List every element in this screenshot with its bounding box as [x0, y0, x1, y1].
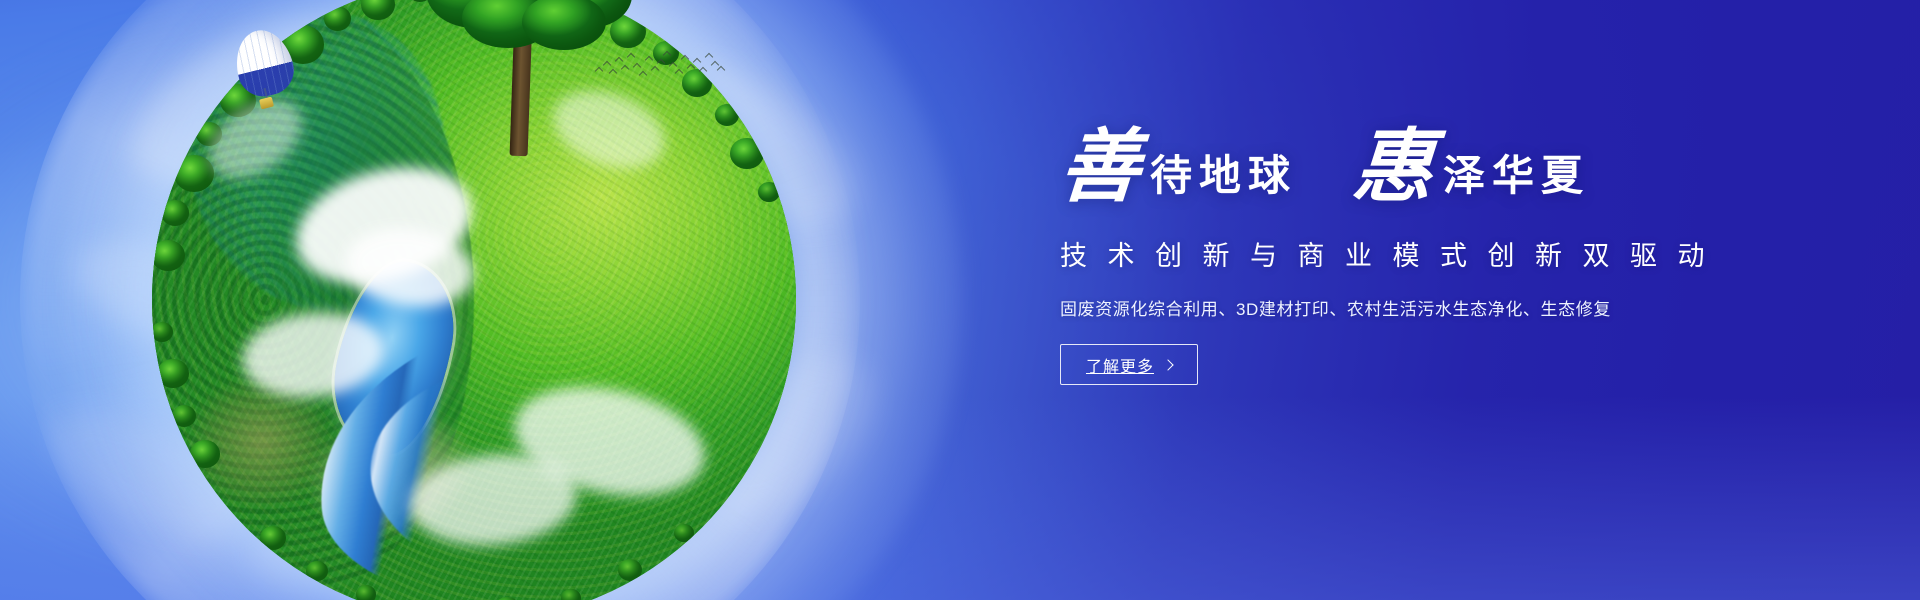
bird-icon	[627, 53, 635, 61]
tree-icon	[190, 440, 220, 468]
chevron-right-icon	[1162, 359, 1173, 370]
tree-icon	[157, 359, 189, 388]
tree-icon	[172, 405, 196, 427]
tree-icon	[618, 559, 642, 581]
bird-icon	[687, 64, 695, 72]
hot-air-balloon-icon	[236, 30, 292, 122]
bird-icon	[681, 55, 689, 63]
bird-icon	[651, 66, 659, 74]
bird-icon	[609, 69, 617, 77]
hero-description: 固废资源化综合利用、3D建材打印、农村生活污水生态净化、生态修复	[1060, 295, 1700, 320]
hero-banner: 善 待地球 惠 泽华夏 技 术 创 新 与 商 业 模 式 创 新 双 驱 动 …	[0, 0, 1920, 600]
bird-icon	[675, 69, 683, 77]
headline-char-1: 善	[1057, 128, 1143, 208]
tree-icon	[152, 322, 173, 342]
tree-canopy	[522, 0, 606, 50]
learn-more-label: 了解更多	[1086, 353, 1154, 377]
tree-icon	[174, 155, 214, 192]
hero-tagline: 技 术 创 新 与 商 业 模 式 创 新 双 驱 动	[1060, 234, 1700, 273]
bird-icon	[633, 63, 641, 71]
bird-icon	[645, 56, 653, 64]
bird-flock-icon	[594, 48, 724, 90]
tree-icon	[260, 526, 286, 550]
tree-icon	[356, 585, 376, 600]
page-title: 善 待地球 惠 泽华夏	[1060, 128, 1700, 208]
bird-icon	[705, 53, 713, 61]
bird-icon	[595, 67, 603, 75]
tree-icon	[730, 138, 764, 169]
tree-icon	[561, 589, 581, 600]
tree-icon	[715, 104, 739, 126]
bird-icon	[717, 66, 725, 74]
tree-icon	[161, 200, 189, 226]
learn-more-button[interactable]: 了解更多	[1060, 344, 1198, 385]
tree-icon	[758, 182, 780, 202]
bird-icon	[615, 57, 623, 65]
hero-content: 善 待地球 惠 泽华夏 技 术 创 新 与 商 业 模 式 创 新 双 驱 动 …	[1060, 128, 1700, 385]
bird-icon	[603, 61, 611, 69]
tree-icon	[361, 0, 395, 20]
headline-char-2: 惠	[1350, 128, 1436, 208]
bird-icon	[663, 51, 671, 59]
bird-icon	[693, 58, 701, 66]
bird-icon	[621, 65, 629, 73]
bird-icon	[669, 62, 677, 70]
tree-icon	[306, 561, 328, 581]
bird-icon	[657, 59, 665, 67]
balloon-basket	[259, 97, 274, 110]
tree-icon	[674, 524, 694, 542]
bird-icon	[699, 67, 707, 75]
headline-rest-1: 待地球	[1150, 156, 1297, 198]
bird-icon	[639, 71, 647, 79]
tree-icon	[324, 6, 351, 31]
headline-rest-2: 泽华夏	[1443, 156, 1590, 198]
tree-icon	[152, 240, 185, 271]
